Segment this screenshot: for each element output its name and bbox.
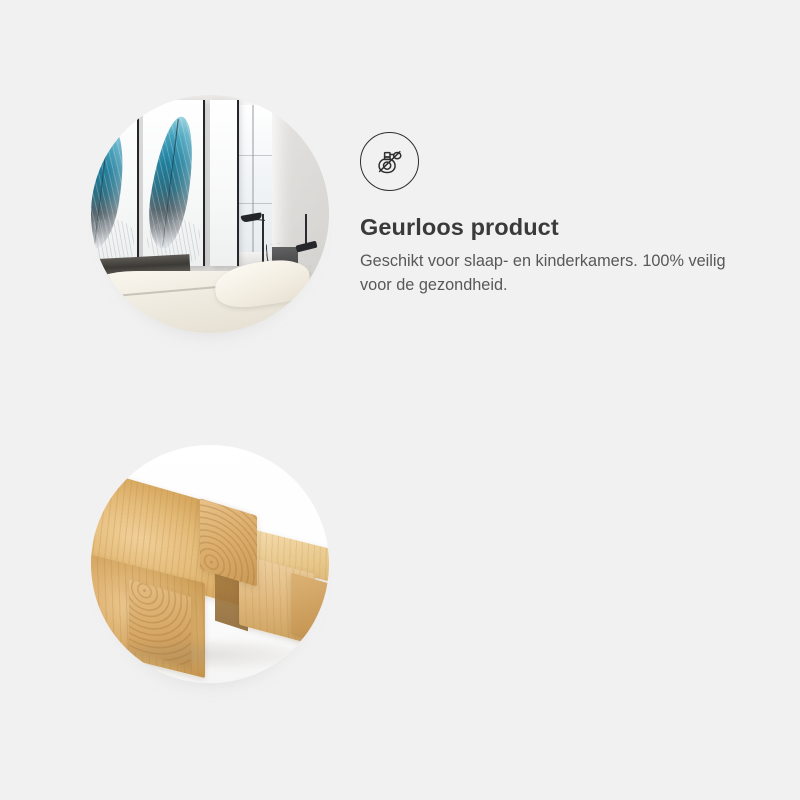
feature-title: Geurloos product: [360, 213, 760, 241]
panel-divider: [237, 100, 239, 267]
window: [234, 105, 272, 253]
canvas-panel-left: [91, 100, 139, 267]
second-beam-end-grain: [291, 573, 329, 646]
window-mullion: [252, 105, 254, 253]
canvas-panel-right: [210, 100, 239, 267]
product-feature-page: Geurloos product Geschikt voor slaap- en…: [0, 0, 800, 800]
wooden-beams-scene: [91, 445, 329, 683]
bedroom-scene: [91, 95, 329, 333]
feature-odourless-product: Geurloos product Geschikt voor slaap- en…: [0, 60, 800, 410]
feature-image-bedroom-feathers: [91, 95, 329, 333]
panel-divider: [203, 100, 205, 267]
feature-image-wooden-beams: [91, 445, 329, 683]
no-fragrance-icon: [360, 132, 419, 191]
feature-description: Geschikt voor slaap- en kinderkamers. 10…: [360, 250, 750, 298]
circular-photo-frame: [91, 445, 329, 683]
circular-photo-frame: [91, 95, 329, 333]
contact-shadow: [110, 640, 300, 669]
feature-solid-construction: Solide constructie Vervaardigd uit de ho…: [0, 410, 800, 760]
panel-divider: [137, 100, 139, 267]
feature-text-odourless: Geurloos product Geschikt voor slaap- en…: [360, 132, 760, 298]
canvas-panel-middle: [143, 100, 205, 267]
